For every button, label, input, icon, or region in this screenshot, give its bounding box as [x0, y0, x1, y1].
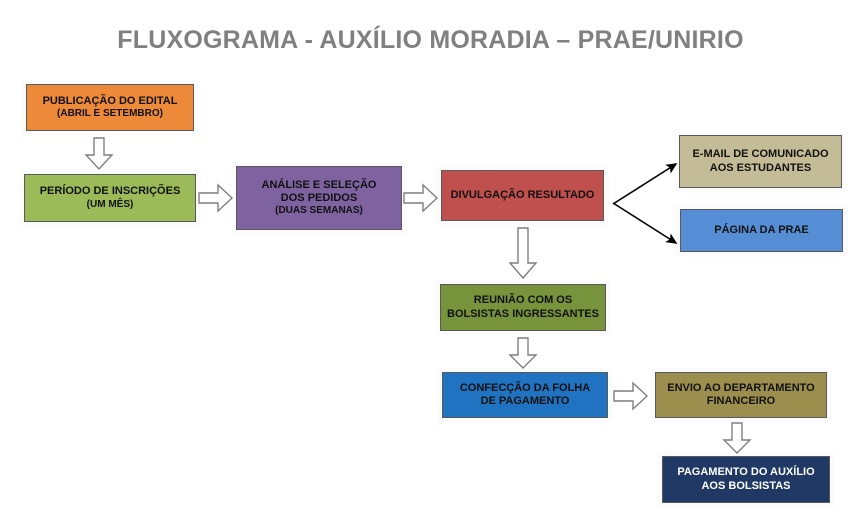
node-line: CONFECÇÃO DA FOLHA: [447, 382, 603, 395]
node-analise-selecao-pedidos: ANÁLISE E SELEÇÃO DOS PEDIDOS (DUAS SEMA…: [236, 166, 402, 230]
node-line: PERÍODO DE INSCRIÇÕES: [29, 185, 191, 198]
node-pagamento-auxilio-bolsistas: PAGAMENTO DO AUXÍLIO AOS BOLSISTAS: [662, 456, 830, 503]
node-line: DOS PEDIDOS: [241, 192, 397, 205]
node-line: ENVIO AO DEPARTAMENTO: [660, 382, 822, 395]
node-line: (ABRIL E SETEMBRO): [31, 108, 189, 120]
arrow-line-divulgacao-to-pagina: [612, 201, 684, 247]
arrow-right-inscricoes-to-analise: [199, 183, 233, 213]
node-line: (DUAS SEMANAS): [241, 205, 397, 217]
node-line: FINANCEIRO: [660, 395, 822, 408]
node-line: ANÁLISE E SELEÇÃO: [241, 179, 397, 192]
arrow-line-divulgacao-to-email: [612, 160, 684, 206]
node-confeccao-folha-pagamento: CONFECÇÃO DA FOLHA DE PAGAMENTO: [442, 372, 608, 418]
node-line: DIVULGAÇÃO RESULTADO: [446, 189, 599, 202]
arrow-right-confeccao-to-envio: [614, 381, 648, 411]
node-line: (UM MÊS): [29, 199, 191, 211]
arrow-down-divulgacao-to-reuniao: [508, 228, 538, 279]
node-envio-departamento-financeiro: ENVIO AO DEPARTAMENTO FINANCEIRO: [655, 372, 827, 418]
node-line: PUBLICAÇÃO DO EDITAL: [31, 95, 189, 108]
page-title: FLUXOGRAMA - AUXÍLIO MORADIA – PRAE/UNIR…: [0, 26, 861, 55]
node-line: PAGAMENTO DO AUXÍLIO: [667, 466, 825, 479]
node-line: DE PAGAMENTO: [447, 395, 603, 408]
flowchart-canvas: FLUXOGRAMA - AUXÍLIO MORADIA – PRAE/UNIR…: [0, 0, 861, 522]
node-reuniao-bolsistas-ingressantes: REUNIÃO COM OS BOLSISTAS INGRESSANTES: [440, 284, 606, 331]
node-email-comunicado-estudantes: E-MAIL DE COMUNICADO AOS ESTUDANTES: [679, 135, 842, 188]
node-line: BOLSISTAS INGRESSANTES: [445, 308, 601, 321]
arrow-down-reuniao-to-confeccao: [508, 338, 538, 369]
node-divulgacao-resultado: DIVULGAÇÃO RESULTADO: [441, 170, 604, 221]
node-line: REUNIÃO COM OS: [445, 294, 601, 307]
node-line: AOS ESTUDANTES: [684, 162, 837, 175]
node-line: E-MAIL DE COMUNICADO: [684, 148, 837, 161]
node-publicacao-edital: PUBLICAÇÃO DO EDITAL (ABRIL E SETEMBRO): [26, 84, 194, 131]
node-periodo-inscricoes: PERÍODO DE INSCRIÇÕES (UM MÊS): [24, 174, 196, 222]
node-line: PÁGINA DA PRAE: [685, 224, 838, 237]
arrow-right-analise-to-divulgacao: [404, 183, 438, 213]
node-pagina-da-prae: PÁGINA DA PRAE: [680, 209, 843, 252]
node-line: AOS BOLSISTAS: [667, 480, 825, 493]
arrow-down-envio-to-pagamento: [722, 423, 752, 454]
arrow-down-edital-to-inscricoes: [84, 138, 114, 170]
